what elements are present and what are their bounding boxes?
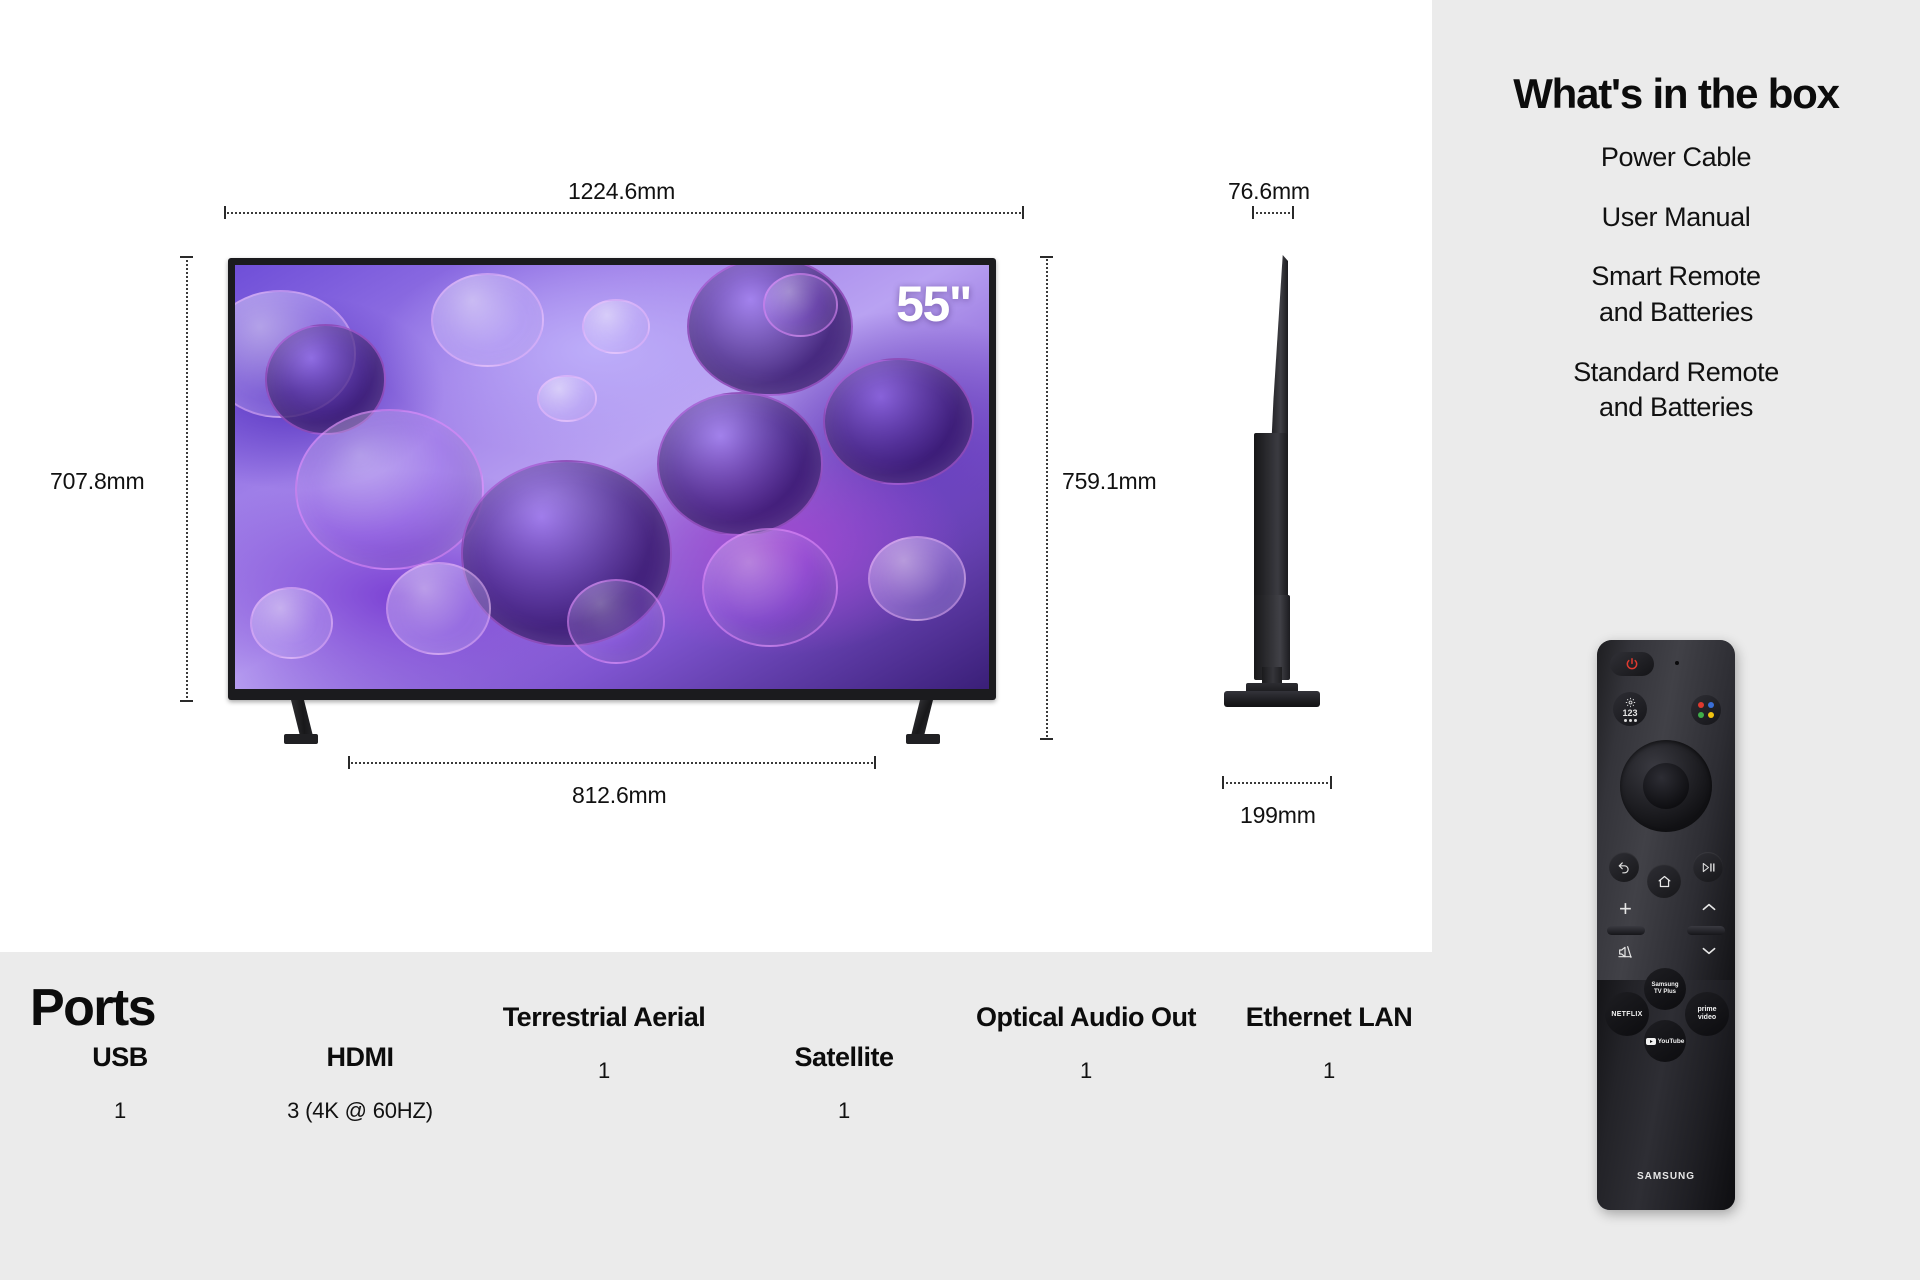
dimension-line-front-width [224, 212, 1024, 214]
remote-back-button[interactable] [1609, 852, 1639, 882]
back-arrow-icon [1617, 860, 1631, 874]
tv-foot-pad-right [906, 734, 940, 744]
remote-channel-up-icon[interactable] [1701, 902, 1717, 912]
dimension-cap-front-width-left [224, 206, 226, 219]
tv-front-view: 55" [228, 258, 996, 700]
port-value-ethernet-lan: 1 [1246, 1058, 1413, 1084]
dimension-cap-panel-height-bottom [180, 700, 193, 702]
remote-color-buttons[interactable] [1691, 695, 1721, 725]
remote-app-prime-video-label: prime video [1697, 1006, 1716, 1023]
whats-in-the-box-panel: What's in the box Power Cable User Manua… [1432, 0, 1920, 1280]
remote-volume-up-icon[interactable]: + [1619, 898, 1632, 920]
gear-icon [1625, 697, 1636, 708]
dimension-line-total-height [1046, 256, 1048, 740]
chevron-down-icon [1701, 946, 1717, 956]
port-label-ethernet-lan: Ethernet LAN [1246, 1000, 1413, 1034]
mute-icon [1617, 944, 1633, 960]
port-value-usb: 1 [92, 1098, 148, 1124]
dimension-cap-stand-width-left [348, 756, 350, 769]
ports-section-title: Ports [30, 978, 155, 1038]
dimension-cap-depth-left [1252, 206, 1254, 219]
youtube-play-icon [1646, 1038, 1656, 1045]
whats-in-the-box-title: What's in the box [1432, 70, 1920, 118]
remote-app-prime-video[interactable]: prime video [1685, 992, 1729, 1036]
dimension-cap-depth-right [1292, 206, 1294, 219]
color-dot-yellow [1708, 712, 1714, 718]
remote-channel-down-icon[interactable] [1701, 946, 1717, 956]
remote-power-button[interactable] [1610, 652, 1654, 676]
remote-numeric-label: 123 [1622, 709, 1637, 718]
remote-app-samsung-tv-plus[interactable]: Samsung TV Plus [1644, 968, 1686, 1010]
color-dot-red [1698, 702, 1704, 708]
dimensions-panel: 1224.6mm 707.8mm 759.1mm 812.6mm [0, 0, 1432, 952]
remote-mute-button[interactable] [1617, 944, 1633, 960]
port-label-satellite: Satellite [794, 1040, 893, 1074]
dimension-line-stand-width [348, 762, 876, 764]
play-pause-icon [1701, 861, 1716, 874]
remote-numeric-settings-button[interactable]: 123 [1613, 692, 1647, 726]
remote-samsung-wordmark: SAMSUNG [1597, 1171, 1735, 1182]
tv-bezel: 55" [228, 258, 996, 700]
dimension-line-depth [1252, 212, 1294, 214]
port-column-optical-audio-out: Optical Audio Out 1 [976, 1000, 1196, 1084]
port-column-satellite: Satellite 1 [794, 1040, 893, 1124]
home-icon [1657, 874, 1672, 889]
remote-app-youtube-content: YouTube [1646, 1038, 1685, 1045]
color-dot-green [1698, 712, 1704, 718]
dimension-cap-stand-depth-right [1330, 776, 1332, 789]
tv-screen-wallpaper: 55" [235, 265, 989, 689]
dimension-cap-total-height-top [1040, 256, 1053, 258]
port-value-hdmi: 3 (4K @ 60HZ) [287, 1098, 433, 1124]
remote-home-button[interactable] [1647, 864, 1681, 898]
dimension-cap-front-width-right [1022, 206, 1024, 219]
remote-numeric-dots [1624, 719, 1637, 722]
port-column-hdmi: HDMI 3 (4K @ 60HZ) [287, 1040, 433, 1124]
power-icon [1625, 657, 1639, 671]
remote-microphone-hole [1675, 661, 1679, 665]
box-item-user-manual: User Manual [1432, 200, 1920, 236]
dimension-label-depth: 76.6mm [1228, 178, 1310, 205]
port-label-terrestrial-aerial: Terrestrial Aerial [503, 1000, 706, 1034]
product-spec-page: 1224.6mm 707.8mm 759.1mm 812.6mm [0, 0, 1920, 1280]
tv-foot-pad-left [284, 734, 318, 744]
ports-panel [0, 952, 1432, 1280]
remote-app-samsung-tv-plus-label: Samsung TV Plus [1651, 982, 1678, 997]
remote-app-youtube-label: YouTube [1658, 1038, 1685, 1045]
color-dot-blue [1708, 702, 1714, 708]
tv-side-base-plate [1224, 691, 1320, 707]
port-label-usb: USB [92, 1040, 148, 1074]
box-item-standard-remote: Standard Remote and Batteries [1432, 355, 1920, 426]
screen-size-badge: 55" [896, 275, 971, 333]
dimension-cap-panel-height-top [180, 256, 193, 258]
remote-select-button[interactable] [1643, 763, 1689, 809]
remote-play-pause-button[interactable] [1693, 852, 1723, 882]
port-value-optical-audio-out: 1 [976, 1058, 1196, 1084]
remote-channel-rocker[interactable] [1687, 926, 1725, 935]
dimension-label-panel-height: 707.8mm [50, 468, 144, 495]
box-item-smart-remote: Smart Remote and Batteries [1432, 259, 1920, 330]
dimension-label-front-width: 1224.6mm [568, 178, 675, 205]
dimension-cap-stand-depth-left [1222, 776, 1224, 789]
port-column-usb: USB 1 [92, 1040, 148, 1124]
remote-volume-rocker[interactable] [1607, 926, 1645, 935]
port-label-hdmi: HDMI [287, 1040, 433, 1074]
dimension-label-stand-width: 812.6mm [572, 782, 666, 809]
whats-in-the-box-list: Power Cable User Manual Smart Remote and… [1432, 140, 1920, 450]
dimension-cap-total-height-bottom [1040, 738, 1053, 740]
remote-app-netflix-label: NETFLIX [1611, 1011, 1642, 1018]
tv-side-view [1210, 255, 1326, 735]
dimension-label-stand-depth: 199mm [1240, 802, 1316, 829]
remote-app-youtube[interactable]: YouTube [1644, 1020, 1686, 1062]
box-item-power-cable: Power Cable [1432, 140, 1920, 176]
dimension-line-panel-height [186, 256, 188, 702]
port-value-terrestrial-aerial: 1 [503, 1058, 706, 1084]
port-column-terrestrial-aerial: Terrestrial Aerial 1 [503, 1000, 706, 1084]
remote-app-netflix[interactable]: NETFLIX [1605, 992, 1649, 1036]
smart-remote-illustration: 123 [1597, 640, 1735, 1210]
port-value-satellite: 1 [794, 1098, 893, 1124]
port-label-optical-audio-out: Optical Audio Out [976, 1000, 1196, 1034]
dimension-cap-stand-width-right [874, 756, 876, 769]
chevron-up-icon [1701, 902, 1717, 912]
dimension-label-total-height: 759.1mm [1062, 468, 1156, 495]
dimension-line-stand-depth [1222, 782, 1332, 784]
remote-directional-pad[interactable] [1620, 740, 1712, 832]
port-column-ethernet-lan: Ethernet LAN 1 [1246, 1000, 1413, 1084]
